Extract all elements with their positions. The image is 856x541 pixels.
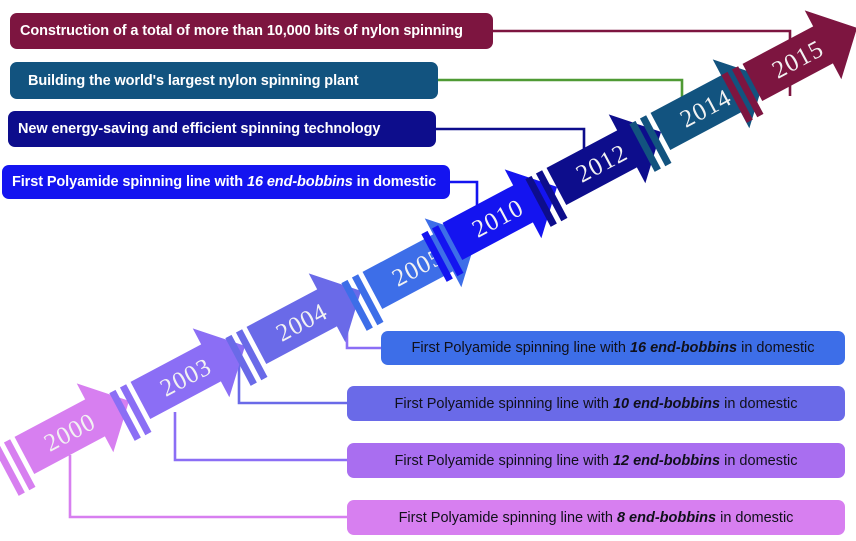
callout-2004-text: First Polyamide spinning line with 10 en… (395, 396, 798, 412)
callout-2004-text-suffix: in domestic (720, 396, 797, 412)
callout-2005-text-emphasis: 16 end-bobbins (630, 340, 737, 356)
callout-2005-text: First Polyamide spinning line with 16 en… (412, 340, 815, 356)
arrow-2004[interactable]: 2004 (217, 256, 379, 392)
callout-2010[interactable]: First Polyamide spinning line with 16 en… (2, 165, 450, 199)
callout-2010-text-suffix: in domestic (353, 174, 436, 190)
callout-2005[interactable]: First Polyamide spinning line with 16 en… (381, 331, 845, 365)
callout-2000-text-suffix: in domestic (716, 510, 793, 526)
callout-2014-text: Building the world's largest nylon spinn… (20, 73, 358, 89)
callout-2003-text: First Polyamide spinning line with 12 en… (395, 453, 798, 469)
callout-2000[interactable]: First Polyamide spinning line with 8 end… (347, 500, 845, 535)
callout-2000-text-prefix: First Polyamide spinning line with (399, 510, 617, 526)
callout-2010-text-emphasis: 16 end-bobbins (247, 174, 353, 190)
callout-2012-text: New energy-saving and efficient spinning… (18, 121, 380, 137)
callout-2015-text: Construction of a total of more than 10,… (20, 23, 463, 39)
callout-2003-text-suffix: in domestic (720, 453, 797, 469)
callout-2005-text-prefix: First Polyamide spinning line with (412, 340, 630, 356)
callout-2005-text-suffix: in domestic (737, 340, 814, 356)
callout-2014[interactable]: Building the world's largest nylon spinn… (10, 62, 438, 99)
callout-2003-text-prefix: First Polyamide spinning line with (395, 453, 613, 469)
callout-2004-text-prefix: First Polyamide spinning line with (395, 396, 613, 412)
arrow-2003[interactable]: 2003 (101, 311, 263, 447)
callout-2000-text: First Polyamide spinning line with 8 end… (399, 510, 794, 526)
callout-2012[interactable]: New energy-saving and efficient spinning… (8, 111, 436, 147)
callout-2000-text-emphasis: 8 end-bobbins (617, 510, 716, 526)
callout-2010-text: First Polyamide spinning line with 16 en… (12, 174, 436, 190)
callout-2004-text-emphasis: 10 end-bobbins (613, 396, 720, 412)
callout-2004[interactable]: First Polyamide spinning line with 10 en… (347, 386, 845, 421)
callout-2015[interactable]: Construction of a total of more than 10,… (10, 13, 493, 49)
timeline-diagram: 2000 2003 2004 2005 2010 (0, 0, 856, 541)
callout-2003[interactable]: First Polyamide spinning line with 12 en… (347, 443, 845, 478)
callout-2010-text-prefix: First Polyamide spinning line with (12, 174, 247, 190)
callout-2003-text-emphasis: 12 end-bobbins (613, 453, 720, 469)
